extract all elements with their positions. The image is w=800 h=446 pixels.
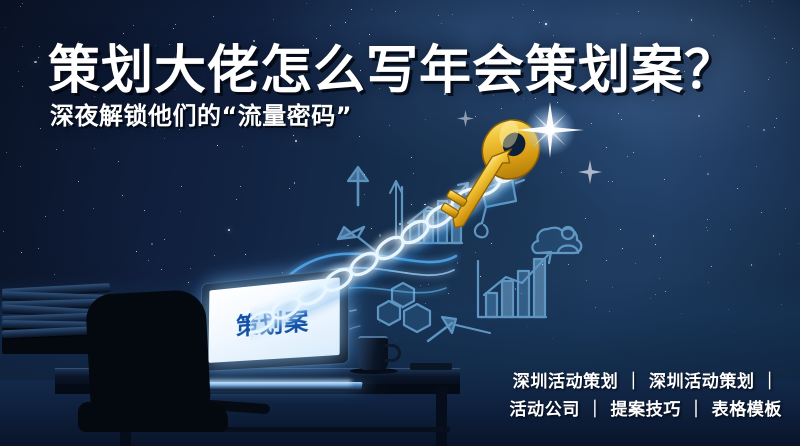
page-title: 策划大佬怎么写年会策划案？ bbox=[48, 28, 737, 103]
desk-leg-right bbox=[436, 386, 447, 446]
keyword-tags-line-2: 活动公司 ｜ 提案技巧 ｜ 表格模板 bbox=[510, 396, 782, 424]
keyword-tags-line-1: 深圳活动策划 ｜ 深圳活动策划 ｜ bbox=[510, 368, 782, 396]
office-chair-icon bbox=[85, 289, 211, 415]
poster-canvas: 策划案 bbox=[0, 0, 800, 446]
chain-key-group bbox=[250, 100, 610, 360]
keyboard-glow bbox=[202, 380, 352, 385]
chair-seat bbox=[78, 402, 228, 432]
keyword-tags: 深圳活动策划 ｜ 深圳活动策划 ｜ 活动公司 ｜ 提案技巧 ｜ 表格模板 bbox=[510, 368, 782, 424]
page-subtitle: 深夜解锁他们的“流量密码” bbox=[50, 96, 352, 131]
